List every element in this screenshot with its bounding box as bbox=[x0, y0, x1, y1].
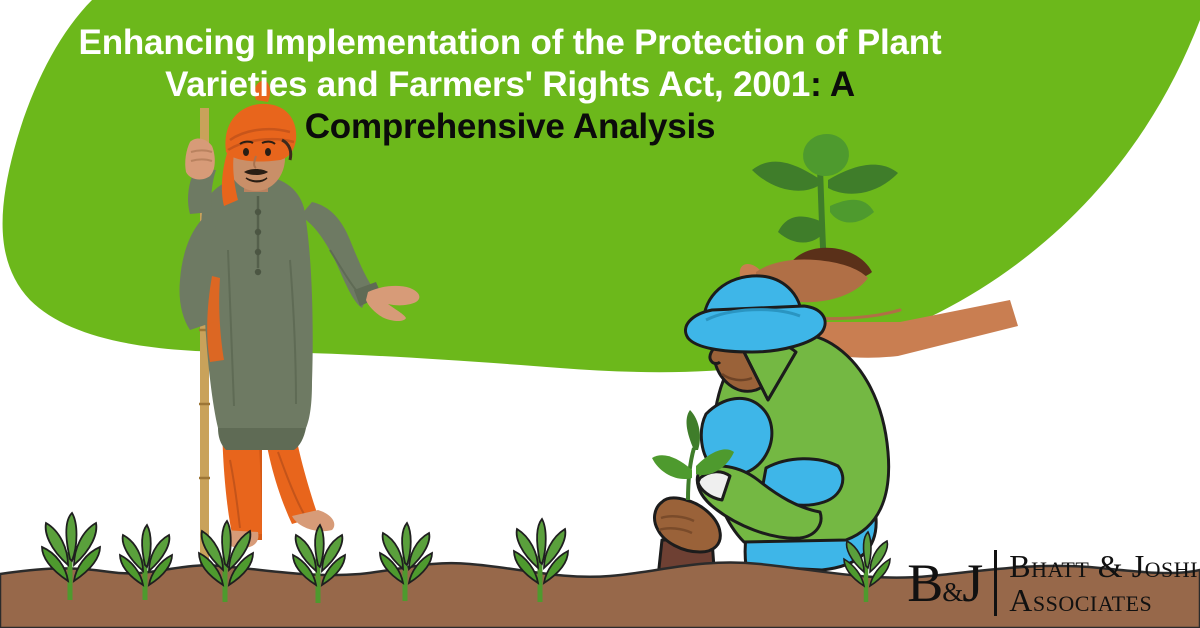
logo-divider bbox=[994, 550, 997, 616]
logo-name-line-2: Associates bbox=[1009, 583, 1198, 617]
logo-name-line-1: Bhatt & Joshi bbox=[1009, 549, 1198, 583]
logo-wordmark: Bhatt & Joshi Associates bbox=[1009, 549, 1198, 617]
logo-monogram: B&J bbox=[907, 556, 994, 610]
seedling-row bbox=[0, 0, 1200, 628]
logo-monogram-b: B bbox=[907, 556, 942, 610]
article-banner: Enhancing Implementation of the Protecti… bbox=[0, 0, 1200, 628]
logo-monogram-ampersand: & bbox=[942, 579, 962, 606]
logo-monogram-j: J bbox=[962, 556, 982, 610]
company-logo[interactable]: B&J Bhatt & Joshi Associates bbox=[907, 546, 1198, 620]
